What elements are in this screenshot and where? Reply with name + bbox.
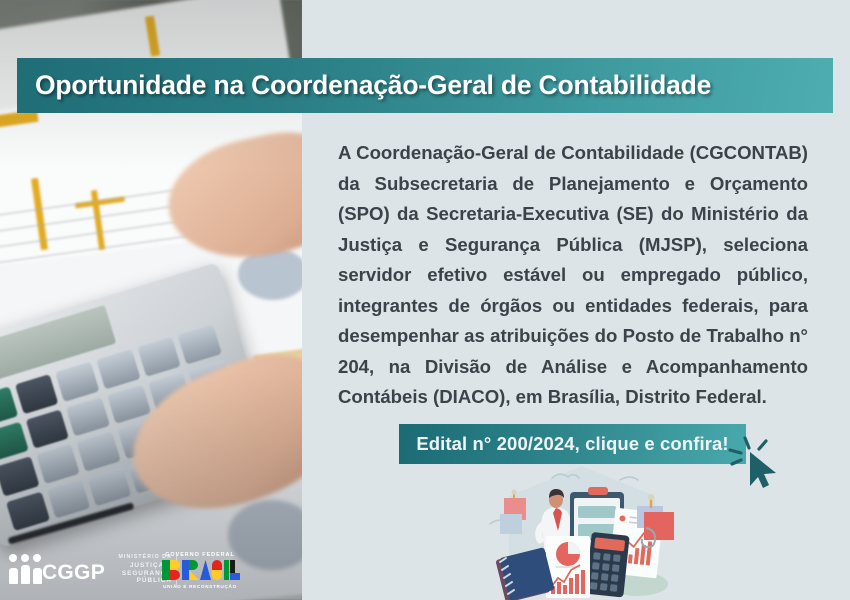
- accounting-illustration: [470, 462, 695, 600]
- cggp-logo: CGGP: [9, 548, 105, 584]
- page-title: Oportunidade na Coordenação-Geral de Con…: [17, 70, 711, 101]
- governo-federal-tagline: UNIÃO E RECONSTRUÇÃO: [160, 584, 240, 589]
- illustration-notebook: [495, 547, 554, 600]
- edital-cta-label: Edital n° 200/2024, clique e confira!: [416, 433, 728, 455]
- body-text: A Coordenação-Geral de Contabilidade (CG…: [338, 138, 808, 413]
- title-banner: Oportunidade na Coordenação-Geral de Con…: [17, 58, 833, 113]
- governo-federal-logo: GOVERNO FEDERAL UNIÃO E RECONSTRUÇÃO: [160, 552, 240, 592]
- three-people-icon: [9, 554, 39, 584]
- footer-logos: CGGP MINISTÉRIO DA JUSTIÇA E SEGURANÇA P…: [0, 540, 302, 600]
- cggp-wordmark: CGGP: [42, 561, 105, 584]
- illustration-calculator: [585, 532, 629, 598]
- edital-cta-button[interactable]: Edital n° 200/2024, clique e confira!: [399, 424, 746, 464]
- click-cursor-icon: [728, 436, 780, 490]
- governo-federal-label: GOVERNO FEDERAL: [160, 552, 240, 558]
- poster-root: CGGP MINISTÉRIO DA JUSTIÇA E SEGURANÇA P…: [0, 0, 850, 600]
- brasil-wordmark-blocks: [160, 560, 240, 582]
